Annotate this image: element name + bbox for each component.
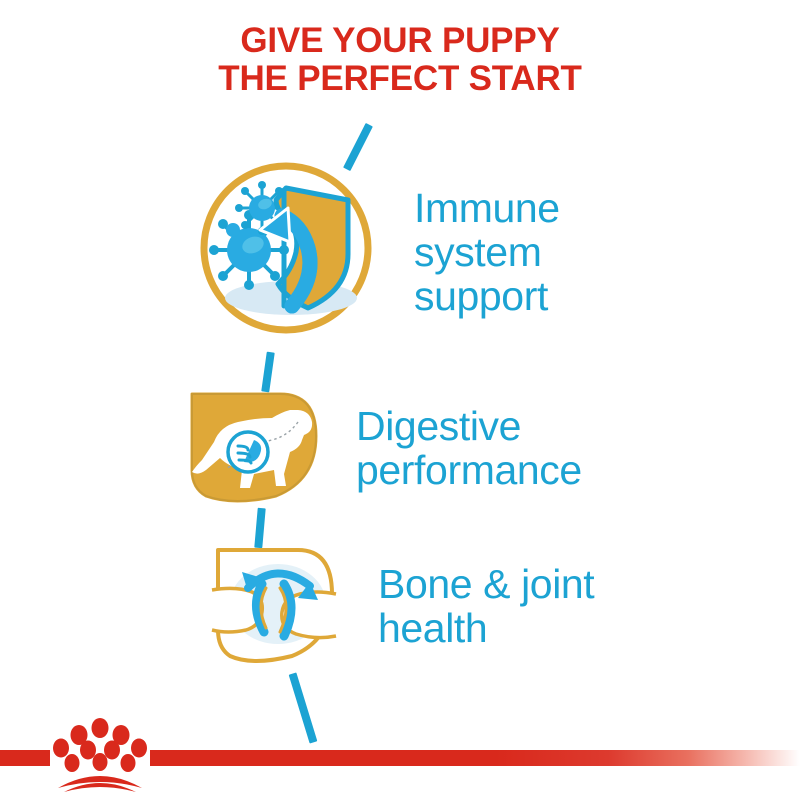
benefit-label-bone: Bone & joint health [378,562,594,650]
digestive-dog-shield-icon [176,378,336,518]
page-title-line-2: THE PERFECT START [0,60,800,98]
page-title-line-1: GIVE YOUR PUPPY [0,22,800,60]
benefit-row-digestive: Digestive performance [176,378,582,518]
page-title: GIVE YOUR PUPPY THE PERFECT START [0,22,800,98]
bone-joint-shield-icon [206,536,346,676]
immune-shield-virus-icon [196,158,376,343]
promo-page: GIVE YOUR PUPPY THE PERFECT START [0,0,800,800]
benefit-row-bone: Bone & joint health [206,536,594,676]
royal-canin-crown-logo [52,718,148,792]
benefit-label-immune: Immune system support [414,186,560,318]
connector-dash-bottom [289,672,318,743]
benefit-row-immune: Immune system support [196,158,560,343]
benefit-label-digestive: Digestive performance [356,404,582,492]
